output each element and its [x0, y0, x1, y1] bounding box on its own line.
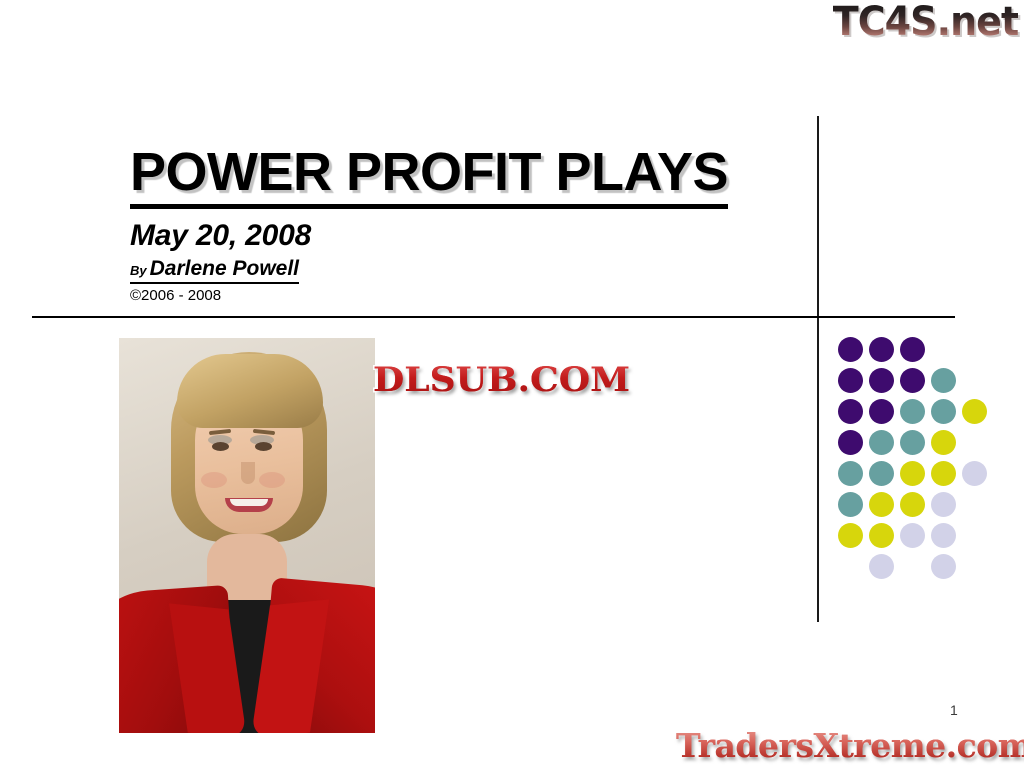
grid-dot-lavender: [900, 523, 925, 548]
grid-dot-purple: [900, 337, 925, 362]
tc4s-logo: TC4S.net: [833, 2, 1018, 42]
portrait-cheek-right: [259, 472, 285, 488]
grid-dot-teal: [869, 430, 894, 455]
grid-dot-yellow: [900, 461, 925, 486]
decorative-dot-grid: [838, 337, 998, 587]
tradersxtreme-logo-outline: TradersXtreme.com: [676, 726, 1024, 765]
grid-dot-purple: [900, 368, 925, 393]
copyright-notice: ©2006 - 2008: [130, 287, 810, 304]
grid-dot-teal: [931, 368, 956, 393]
grid-dot-teal: [838, 461, 863, 486]
grid-dot-lavender: [869, 554, 894, 579]
portrait-hair-front: [177, 354, 323, 428]
presenter-portrait-photo: [119, 338, 375, 733]
portrait-nose: [241, 462, 255, 484]
grid-dot-teal: [869, 461, 894, 486]
portrait-eye-left: [212, 442, 229, 451]
grid-dot-yellow: [869, 492, 894, 517]
grid-dot-purple: [838, 399, 863, 424]
grid-dot-yellow: [869, 523, 894, 548]
byline-author: Darlene Powell: [150, 257, 299, 280]
grid-dot-purple: [869, 399, 894, 424]
vertical-divider-rule: [817, 116, 819, 622]
page-title: POWER PROFIT PLAYS: [130, 145, 728, 209]
horizontal-divider-rule: [32, 316, 955, 318]
grid-dot-teal: [931, 399, 956, 424]
grid-dot-purple: [838, 368, 863, 393]
byline-prefix: By: [130, 263, 147, 278]
grid-dot-yellow: [900, 492, 925, 517]
portrait-cheek-left: [201, 472, 227, 488]
grid-dot-yellow: [931, 461, 956, 486]
page-number: 1: [950, 702, 958, 718]
grid-dot-yellow: [962, 399, 987, 424]
grid-dot-yellow: [931, 430, 956, 455]
grid-dot-lavender: [931, 554, 956, 579]
grid-dot-yellow: [838, 523, 863, 548]
portrait-eye-right: [255, 442, 272, 451]
tradersxtreme-logo-wrap: TradersXtreme.com TradersXtreme.com: [676, 726, 1020, 766]
presentation-date: May 20, 2008: [130, 219, 810, 253]
presentation-slide: TC4S.net TC4S.net POWER PROFIT PLAYS May…: [0, 0, 1024, 768]
grid-dot-purple: [838, 430, 863, 455]
grid-dot-purple: [838, 337, 863, 362]
dlsub-watermark-outline: DLSUB.COM: [373, 360, 630, 400]
grid-dot-teal: [838, 492, 863, 517]
grid-dot-lavender: [962, 461, 987, 486]
grid-dot-teal: [900, 399, 925, 424]
grid-dot-purple: [869, 368, 894, 393]
grid-dot-lavender: [931, 523, 956, 548]
title-block: POWER PROFIT PLAYS May 20, 2008 ByDarlen…: [130, 145, 810, 304]
grid-dot-teal: [900, 430, 925, 455]
grid-dot-purple: [869, 337, 894, 362]
byline: ByDarlene Powell: [130, 257, 299, 284]
grid-dot-lavender: [931, 492, 956, 517]
portrait-teeth: [230, 499, 268, 506]
